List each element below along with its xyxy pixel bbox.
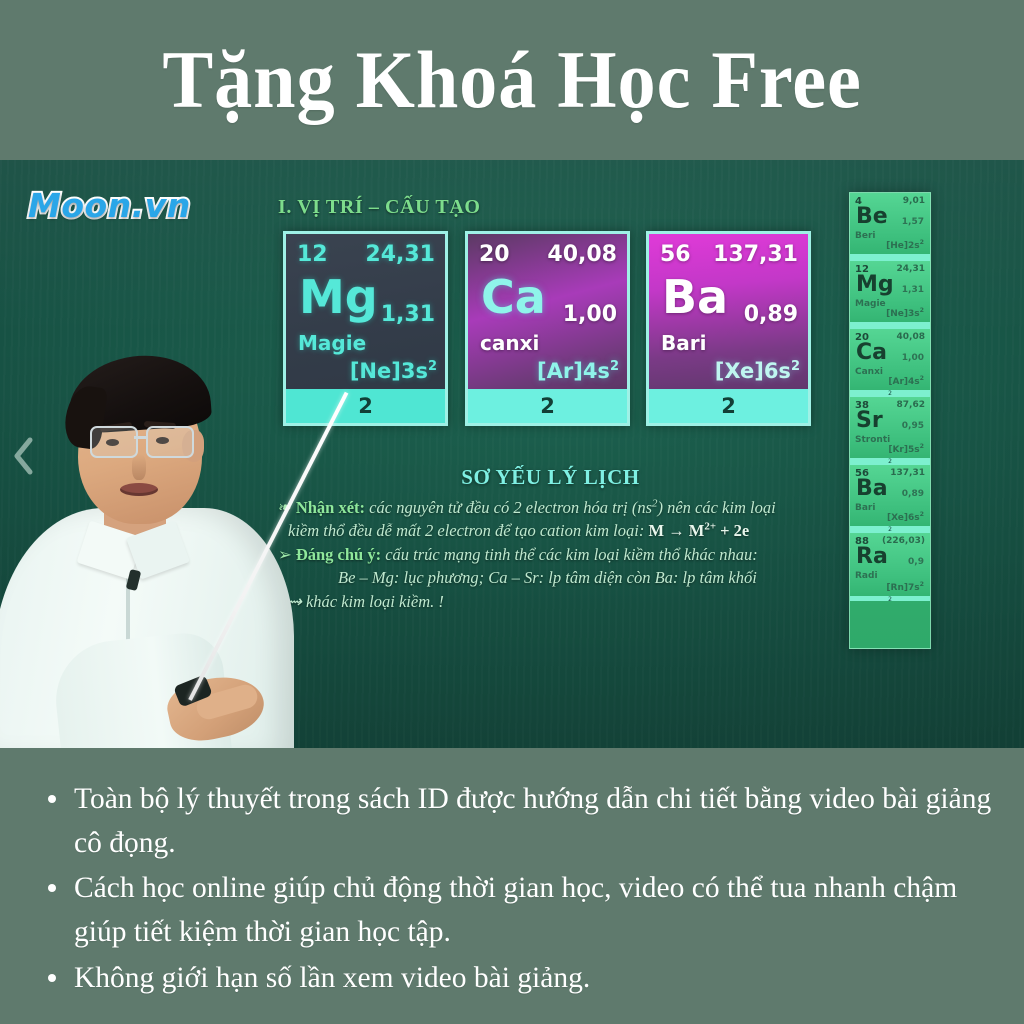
- electronegativity: 0,9: [908, 557, 924, 567]
- element-symbol: Ca: [856, 342, 887, 364]
- strip-cell-ra: 88 (226,03) Ra 0,9 Radi [Rn]7s2 2: [850, 533, 930, 601]
- electronegativity: 1,00: [563, 302, 617, 327]
- element-card-group: 12 24,31 Mg 1,31 Magie [Ne]3s2 2 20 40,0…: [283, 231, 818, 426]
- electron-configuration: [Kr]5s2: [888, 443, 924, 455]
- atomic-mass: 87,62: [897, 400, 925, 410]
- lens-left: [90, 426, 138, 458]
- moon-vn-logo: Moon.vn: [28, 186, 191, 225]
- slide-page: Tặng Khoá Học Free Moon.vn I. VỊ TRÍ – C…: [0, 0, 1024, 1024]
- page-title: Tặng Khoá Học Free: [162, 39, 862, 121]
- slide-sub-title: SƠ YẾU LÝ LỊCH: [283, 465, 818, 490]
- valence-electron-count: 2: [649, 389, 808, 423]
- strip-cell-ba: 56 137,31 Ba 0,89 Bari [Xe]6s2 2: [850, 465, 930, 533]
- benefit-list: Toàn bộ lý thuyết trong sách ID được hướ…: [0, 748, 1024, 1000]
- footer-benefits: Toàn bộ lý thuyết trong sách ID được hướ…: [0, 748, 1024, 1024]
- atomic-mass: 137,31: [890, 468, 925, 478]
- element-card-body: 20 40,08 Ca 1,00 canxi [Ar]4s2: [468, 234, 627, 389]
- valence-electron-count: 2: [850, 390, 930, 397]
- lecture-video-frame[interactable]: Moon.vn I. VỊ TRÍ – CẤU TẠO 12 24,31 Mg …: [0, 160, 1024, 748]
- element-symbol: Ba: [662, 274, 728, 320]
- element-symbol: Be: [856, 206, 888, 228]
- note-line-3: ➢Đáng chú ý: cấu trúc mạng tinh thể các …: [278, 543, 838, 566]
- atomic-mass: 24,31: [897, 264, 925, 274]
- strip-cell-be: 4 9,01 Be 1,57 Beri [He]2s2: [850, 193, 930, 261]
- electron-configuration: [Ne]3s2: [350, 359, 437, 383]
- nose: [132, 454, 146, 480]
- header-banner: Tặng Khoá Học Free: [0, 0, 1024, 160]
- electron-configuration: [Rn]7s2: [886, 581, 924, 593]
- element-symbol: Sr: [856, 410, 883, 432]
- mouth: [120, 483, 158, 496]
- element-name: canxi: [480, 331, 539, 355]
- electronegativity: 1,57: [902, 217, 924, 227]
- atomic-number: 20: [479, 242, 510, 267]
- element-name: Radi: [855, 571, 878, 581]
- electron-configuration: [Xe]6s2: [887, 511, 924, 523]
- periodic-group2-strip: 4 9,01 Be 1,57 Beri [He]2s2 12 24,31 Mg …: [849, 192, 931, 649]
- element-symbol: Mg: [856, 274, 894, 296]
- valence-electron-count: 2: [850, 526, 930, 533]
- note-line-5: ⇝ khác kim loại kiềm. !: [278, 590, 838, 613]
- glasses: [90, 426, 194, 456]
- atomic-mass: 137,31: [713, 242, 798, 267]
- note-line-2: kiềm thổ đều dễ mất 2 electron để tạo ca…: [278, 519, 838, 542]
- atomic-mass: 40,08: [547, 242, 617, 267]
- valence-electron-count: 2: [468, 389, 627, 423]
- electron-configuration: [Ar]4s2: [537, 359, 619, 383]
- electronegativity: 1,00: [902, 353, 924, 363]
- element-card-body: 56 137,31 Ba 0,89 Bari [Xe]6s2: [649, 234, 808, 389]
- note-line-4: Be – Mg: lục phương; Ca – Sr: lp tâm diệ…: [278, 566, 838, 589]
- electron-configuration: [Ne]3s2: [886, 307, 924, 319]
- sub-title-wrapper: SƠ YẾU LÝ LỊCH: [283, 465, 818, 490]
- element-name: Canxi: [855, 367, 883, 377]
- atomic-mass: 24,31: [365, 242, 435, 267]
- element-symbol: Ra: [856, 546, 888, 568]
- atomic-mass: (226,03): [882, 536, 925, 546]
- atomic-number: 12: [297, 242, 328, 267]
- electron-configuration: [Ar]4s2: [888, 375, 924, 387]
- list-item: Cách học online giúp chủ động thời gian …: [40, 867, 998, 954]
- element-name: Bari: [855, 503, 875, 513]
- electronegativity: 0,95: [902, 421, 924, 431]
- atomic-mass: 40,08: [897, 332, 925, 342]
- slide-section-heading: I. VỊ TRÍ – CẤU TẠO: [278, 196, 481, 219]
- element-card-ba: 56 137,31 Ba 0,89 Bari [Xe]6s2 2: [646, 231, 811, 426]
- list-item: Toàn bộ lý thuyết trong sách ID được hướ…: [40, 778, 998, 865]
- electronegativity: 0,89: [902, 489, 924, 499]
- list-item: Không giới hạn số lần xem video bài giản…: [40, 957, 998, 1001]
- lens-right: [146, 426, 194, 458]
- note-line-1: ❧Nhận xét: các nguyên tử đều có 2 electr…: [278, 496, 838, 519]
- atomic-mass: 9,01: [903, 196, 925, 206]
- strip-cell-ca: 20 40,08 Ca 1,00 Canxi [Ar]4s2 2: [850, 329, 930, 397]
- element-symbol: Ba: [856, 478, 888, 500]
- element-name: Beri: [855, 231, 876, 241]
- electronegativity: 0,89: [744, 302, 798, 327]
- electronegativity: 1,31: [902, 285, 924, 295]
- strip-cell-mg: 12 24,31 Mg 1,31 Magie [Ne]3s2: [850, 261, 930, 329]
- element-name: Magie: [855, 299, 886, 309]
- slide-notes: ❧Nhận xét: các nguyên tử đều có 2 electr…: [278, 496, 838, 613]
- atomic-number: 56: [660, 242, 691, 267]
- electron-configuration: [He]2s2: [886, 239, 924, 251]
- teacher-figure: [0, 278, 330, 748]
- element-card-ca: 20 40,08 Ca 1,00 canxi [Ar]4s2 2: [465, 231, 630, 426]
- element-name: Bari: [661, 331, 706, 355]
- element-symbol: Ca: [481, 274, 546, 320]
- valence-electron-count: 2: [850, 458, 930, 465]
- strip-cell-sr: 38 87,62 Sr 0,95 Stronti [Kr]5s2 2: [850, 397, 930, 465]
- electron-configuration: [Xe]6s2: [715, 359, 800, 383]
- electronegativity: 1,31: [381, 302, 435, 327]
- valence-electron-count: 2: [850, 596, 930, 603]
- element-name: Stronti: [855, 435, 890, 445]
